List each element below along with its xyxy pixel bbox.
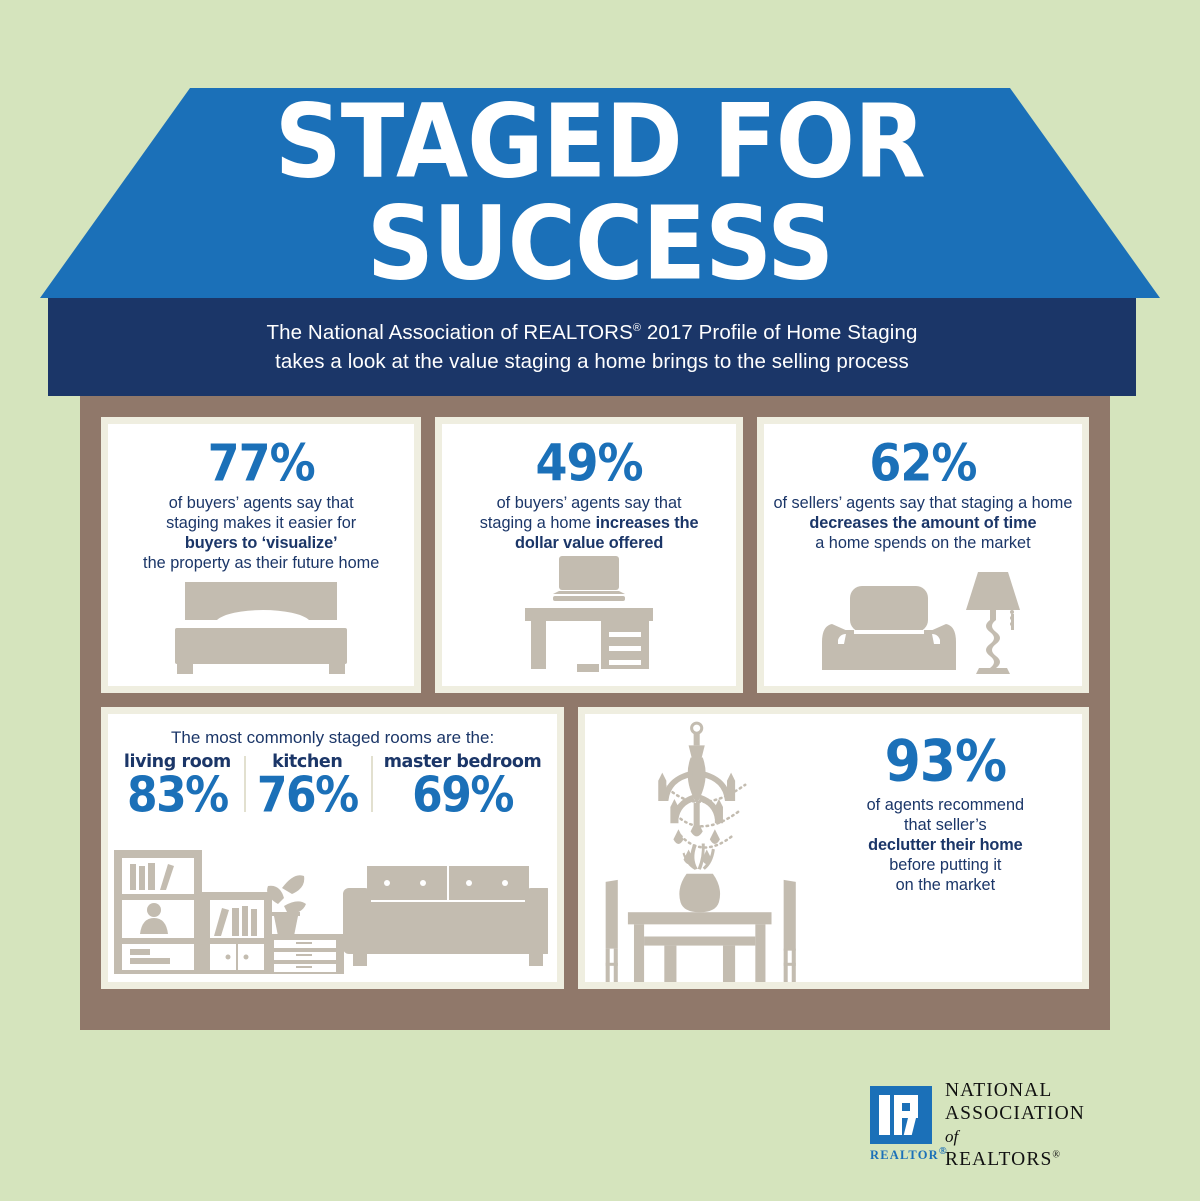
subtitle-text-a: The National Association of REALTORS <box>267 321 633 344</box>
stat-card-visualize: 77% of buyers’ agents say thatstaging ma… <box>101 417 421 693</box>
room-percent-living-room: 83% <box>124 772 231 821</box>
logo-association-word: ASSOCIATION <box>945 1103 1085 1124</box>
logo-line-national: NATIONAL <box>945 1079 1085 1102</box>
realtor-wordmark: REALTOR® <box>870 1146 932 1163</box>
room-master-bedroom: master bedroom 69% <box>371 753 555 818</box>
stat-blurb-declutter: of agents recommend that seller’s declut… <box>819 795 1072 895</box>
subtitle-line-2: takes a look at the value staging a home… <box>275 347 909 376</box>
room-percent-master-bedroom: 69% <box>384 772 542 821</box>
stat-percent-77: 77% <box>108 438 414 489</box>
room-percent-kitchen: 76% <box>257 772 358 821</box>
subtitle-band: The National Association of REALTORS® 20… <box>48 298 1136 396</box>
stat-card-time-on-market: 62% of sellers’ agents say that staging … <box>757 417 1089 693</box>
armchair-lamp-icon <box>764 568 1082 686</box>
subtitle-text-b: 2017 Profile of Home Staging <box>641 321 917 344</box>
rooms-list: living room 83% kitchen 76% master bedro… <box>108 753 557 818</box>
rooms-icons <box>108 846 557 982</box>
registered-mark: ® <box>633 322 641 334</box>
room-kitchen: kitchen 76% <box>244 753 371 818</box>
declutter-line-4: before putting it <box>889 856 1001 874</box>
bed-icon <box>108 574 414 686</box>
room-living-room: living room 83% <box>111 753 244 818</box>
house-body: 77% of buyers’ agents say thatstaging ma… <box>80 396 1110 1030</box>
desk-icon <box>442 552 736 686</box>
nar-logo-text: NATIONAL ASSOCIATION of REALTORS® <box>945 1079 1085 1171</box>
rooms-card: The most commonly staged rooms are the: … <box>101 707 564 989</box>
declutter-line-2: that seller’s <box>904 816 987 834</box>
stat-card-declutter: 93% of agents recommend that seller’s de… <box>578 707 1089 989</box>
subtitle-line-1: The National Association of REALTORS® 20… <box>267 318 918 347</box>
logo-of-word: of <box>945 1127 958 1146</box>
declutter-text: 93% of agents recommend that seller’s de… <box>819 714 1082 982</box>
infographic-canvas: STAGED FOR SUCCESS The National Associat… <box>0 0 1200 1201</box>
stat-card-dollar-value: 49% of buyers’ agents say thatstaging a … <box>435 417 743 693</box>
logo-realtors-reg: ® <box>1052 1150 1061 1161</box>
realtor-mark-icon: REALTOR® <box>870 1086 932 1163</box>
stat-percent-93: 93% <box>819 733 1072 790</box>
nar-logo: REALTOR® NATIONAL ASSOCIATION of REALTOR… <box>870 1083 1080 1167</box>
realtor-r-block <box>870 1086 932 1144</box>
stats-row-1: 77% of buyers’ agents say thatstaging ma… <box>101 417 1089 693</box>
logo-line-realtors: REALTORS® <box>945 1148 1085 1171</box>
stat-blurb-visualize: of buyers’ agents say thatstaging makes … <box>108 493 414 573</box>
stat-percent-49: 49% <box>442 438 736 489</box>
declutter-line-3: declutter their home <box>868 836 1023 854</box>
realtor-label: REALTOR <box>870 1149 939 1163</box>
roof-shape <box>40 88 1160 298</box>
cards-grid: 77% of buyers’ agents say thatstaging ma… <box>80 396 1110 1030</box>
logo-line-association: ASSOCIATION of <box>945 1102 1085 1148</box>
stats-row-2: The most commonly staged rooms are the: … <box>101 707 1089 989</box>
stat-percent-62: 62% <box>764 438 1082 489</box>
declutter-icons <box>585 714 818 982</box>
rooms-card-title: The most commonly staged rooms are the: <box>108 714 557 748</box>
stat-blurb-time-on-market: of sellers’ agents say that staging a ho… <box>764 493 1082 553</box>
declutter-line-5: on the market <box>896 876 996 894</box>
declutter-line-1: of agents recommend <box>867 796 1024 814</box>
stat-blurb-dollar-value: of buyers’ agents say thatstaging a home… <box>442 493 736 553</box>
logo-realtors-word: REALTORS <box>945 1149 1052 1170</box>
